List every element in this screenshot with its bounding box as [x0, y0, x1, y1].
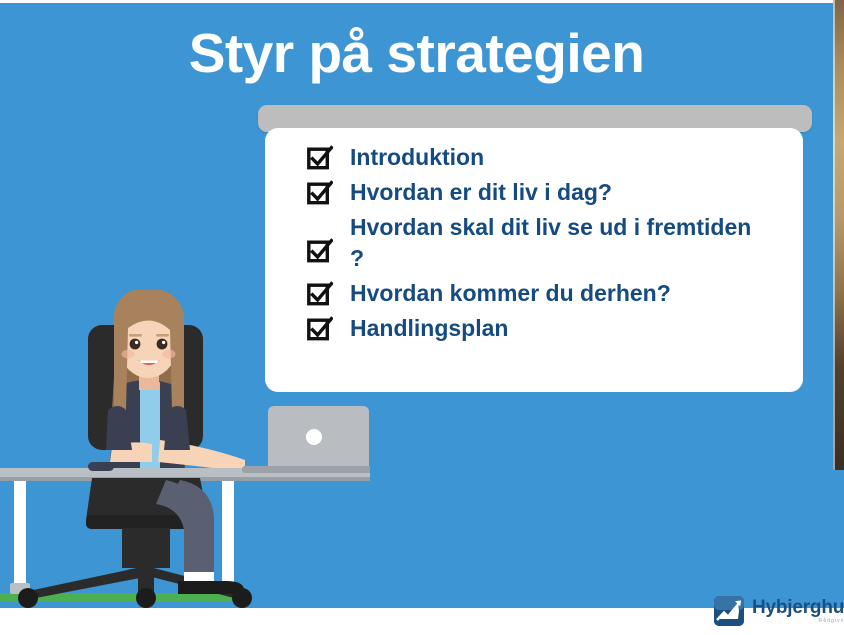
agenda-item-label: Hvordan er dit liv i dag? [350, 177, 612, 208]
page-title: Styr på strategien [0, 21, 833, 85]
list-item[interactable]: Handlingsplan [307, 313, 793, 344]
checkbox-checked-icon[interactable] [307, 145, 333, 171]
logo-textblock: Hybjerghus Rådgivning [752, 598, 844, 624]
photo-edge-separator [833, 0, 835, 470]
checkbox-checked-icon[interactable] [307, 316, 333, 342]
top-white-sliver [0, 0, 844, 3]
list-item[interactable]: Introduktion [307, 142, 793, 173]
checkbox-checked-icon[interactable] [307, 180, 333, 206]
list-item[interactable]: Hvordan er dit liv i dag? [307, 177, 793, 208]
company-logo[interactable]: Hybjerghus Rådgivning [714, 596, 844, 626]
list-item[interactable]: Hvordan kommer du derhen? [307, 278, 793, 309]
slide-right-fill [833, 470, 844, 608]
checkbox-checked-icon[interactable] [307, 281, 333, 307]
logo-name: Hybjerghus [752, 598, 844, 617]
slide-screenshot: Styr på strategien [0, 0, 844, 635]
agenda-card: Introduktion Hvordan er dit liv i dag? [265, 128, 803, 392]
chart-arrow-up-icon [714, 596, 744, 626]
agenda-item-label: Handlingsplan [350, 313, 508, 344]
list-item[interactable]: Hvordan skal dit liv se ud i fremtiden ? [307, 212, 793, 274]
agenda-item-label: Hvordan skal dit liv se ud i fremtiden ? [350, 212, 770, 274]
agenda-list: Introduktion Hvordan er dit liv i dag? [307, 142, 793, 348]
agenda-item-label: Hvordan kommer du derhen? [350, 278, 671, 309]
checkbox-checked-icon[interactable] [307, 238, 333, 264]
logo-subtitle: Rådgivning [752, 619, 844, 624]
agenda-item-label: Introduktion [350, 142, 484, 173]
